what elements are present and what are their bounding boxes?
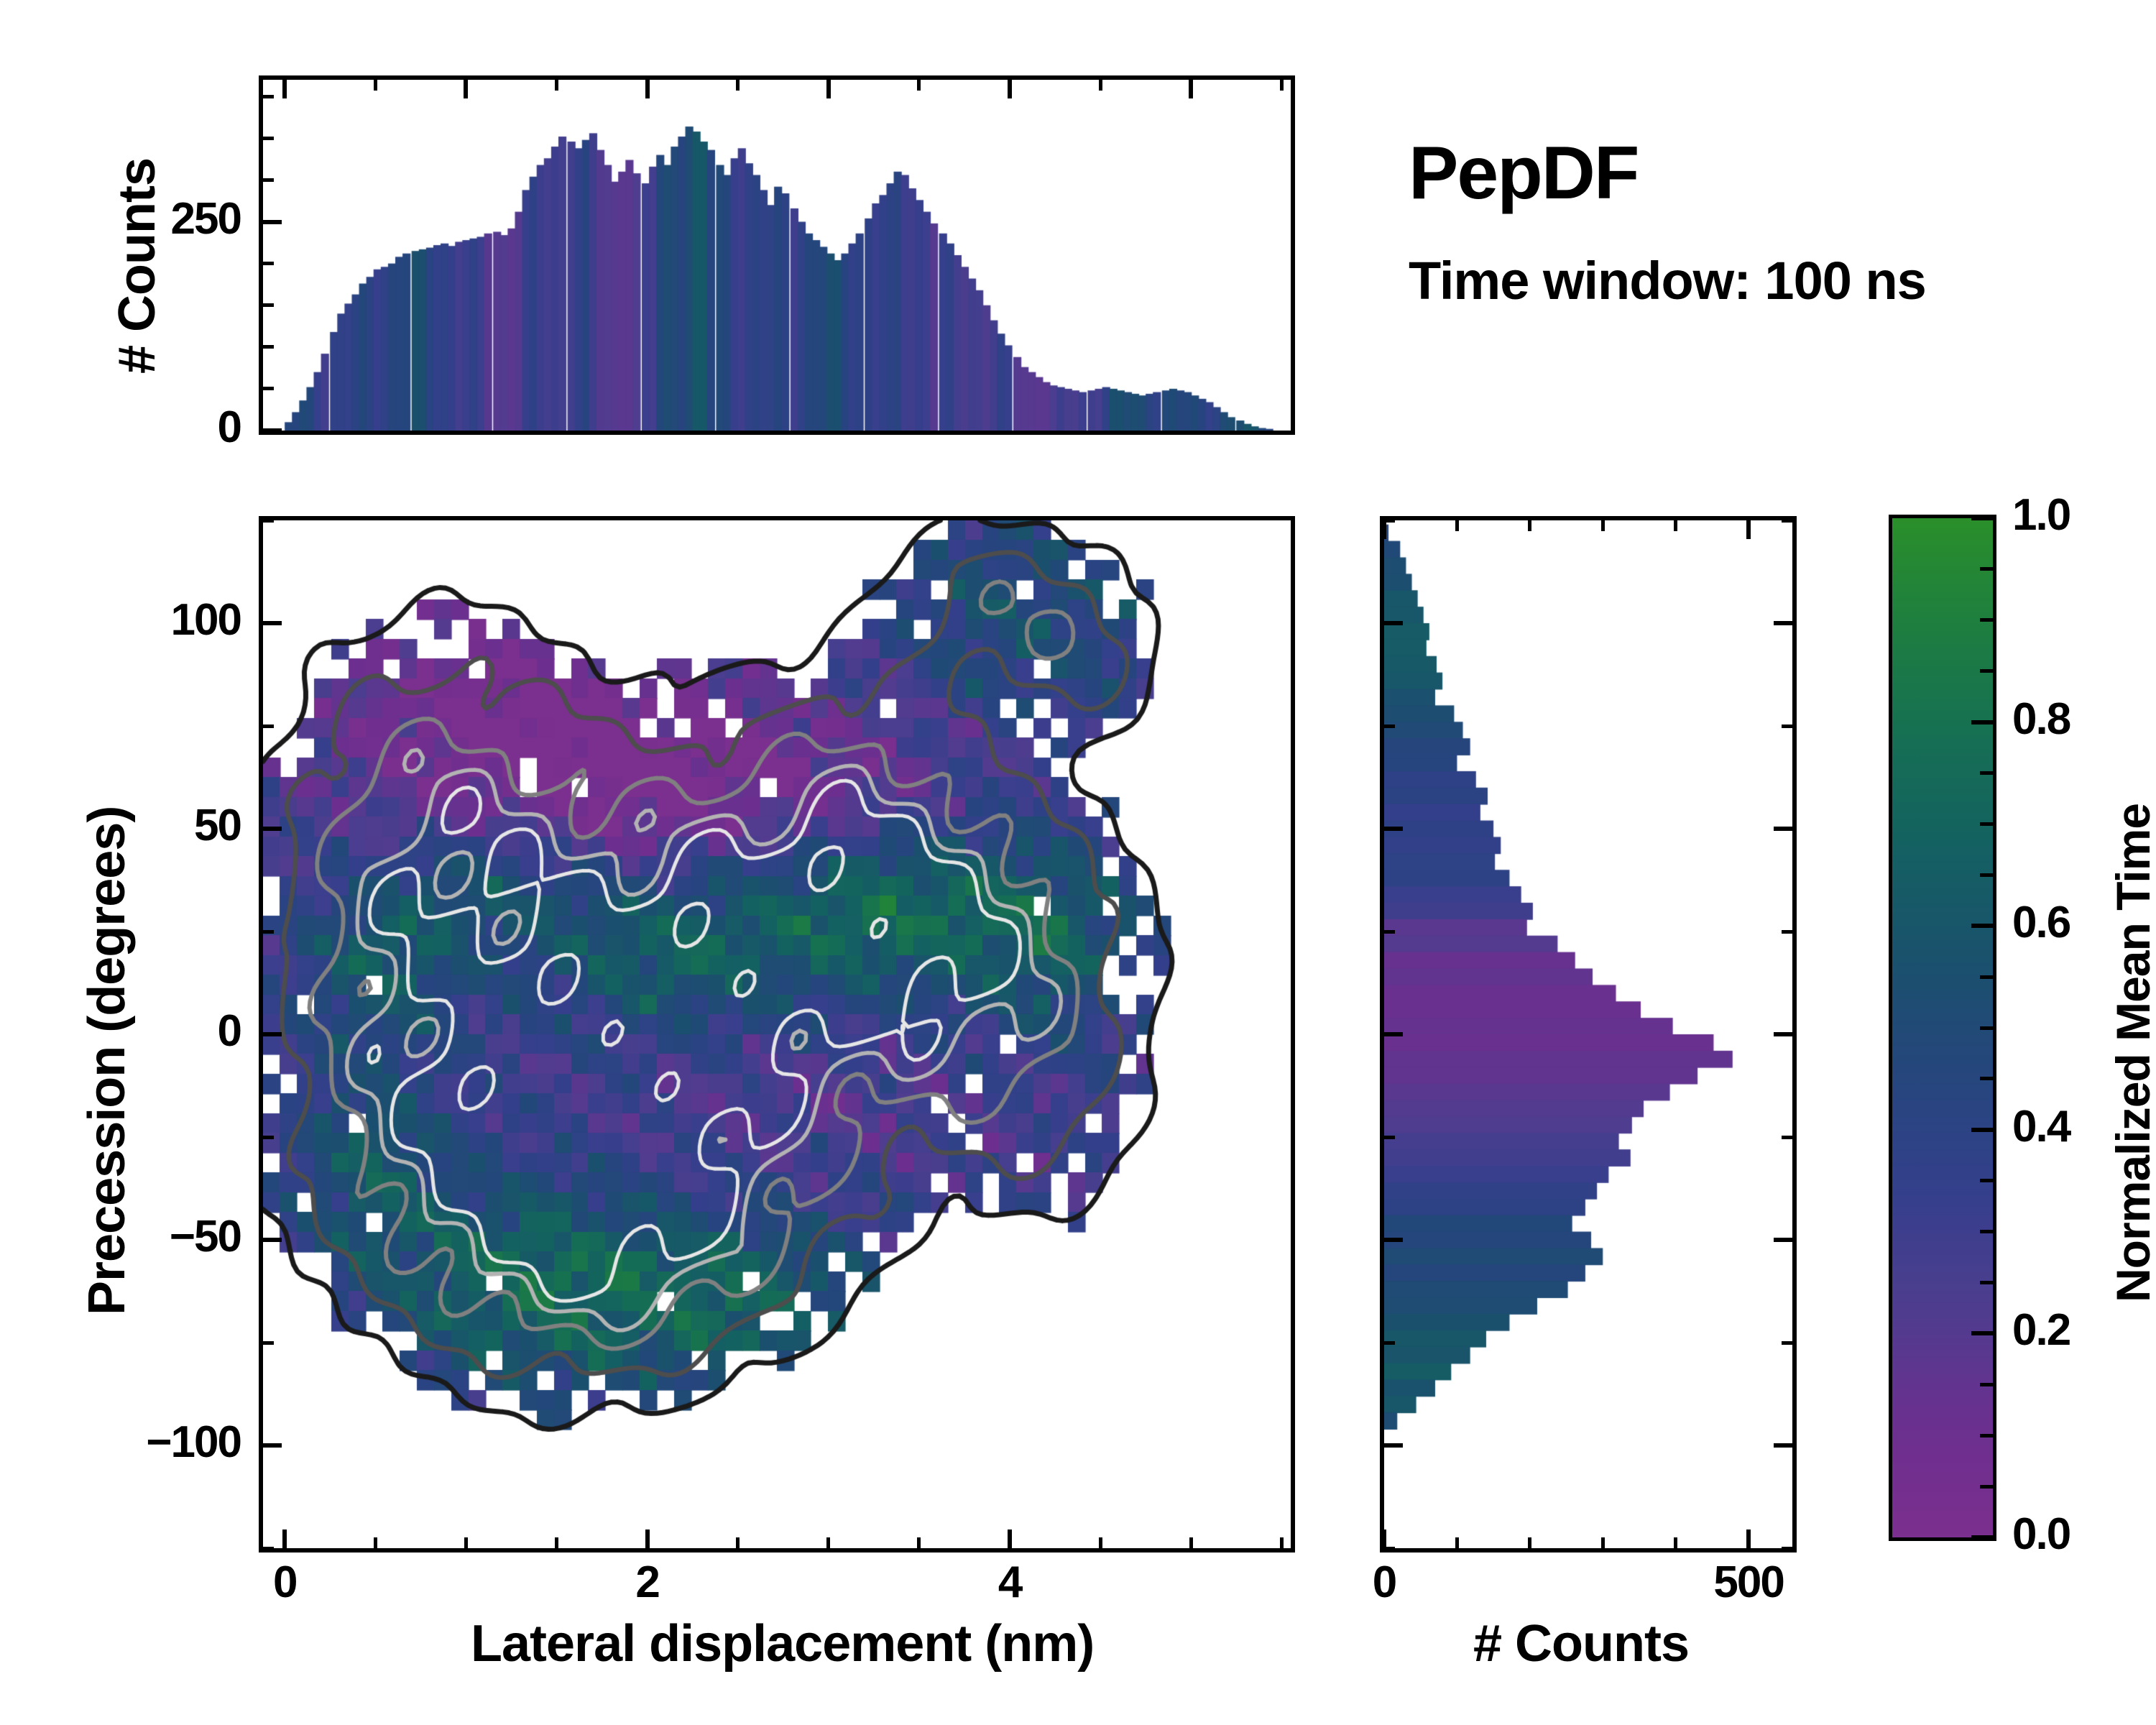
colorbar-tick-minor: [1980, 771, 1993, 775]
main-y-tick-major: [263, 1032, 282, 1036]
colorbar-tick-label: 0.2: [2012, 1305, 2070, 1356]
main-x-tick-minor: [1099, 1537, 1102, 1548]
colorbar-tick-minor: [1980, 1485, 1993, 1489]
right-y-tick-major: [1384, 1238, 1403, 1242]
main-x-tick-minor: [736, 1537, 740, 1548]
main-x-tick-major: [1008, 1529, 1012, 1548]
main-y-tick-minor: [263, 1547, 274, 1550]
colorbar-tick-minor: [1980, 873, 1993, 877]
right-y-tick-minor-r: [1782, 1341, 1792, 1345]
top-x-tick-minor: [826, 80, 830, 91]
top-y-tick-minor: [263, 262, 274, 265]
colorbar-tick-minor: [1980, 1179, 1993, 1182]
top-x-tick-major: [282, 80, 287, 98]
main-y-tick-major: [263, 827, 282, 831]
top-y-tick-label: 0: [65, 402, 241, 453]
top-y-tick-major: [263, 428, 282, 433]
colorbar-tick-major: [1971, 516, 1993, 520]
colorbar-tick-label: 0.8: [2012, 694, 2070, 745]
right-y-tick-minor: [1384, 1341, 1395, 1345]
right-y-tick-major: [1384, 621, 1403, 625]
right-x-tick-minor: [1601, 1537, 1605, 1548]
colorbar-tick-minor: [1980, 669, 1993, 673]
colorbar-tick-label: 0.4: [2012, 1101, 2070, 1152]
main-y-tick-minor: [263, 1341, 274, 1345]
main-y-tick-minor: [263, 930, 274, 934]
main-y-tick-minor: [263, 724, 274, 728]
right-x-tick-minor-top: [1528, 520, 1531, 531]
main-x-tick-minor: [1189, 1537, 1193, 1548]
top-y-tick-minor: [263, 303, 274, 307]
colorbar-tick-minor: [1980, 1230, 1993, 1233]
colorbar-tick-minor: [1980, 1281, 1993, 1284]
right-y-tick-major: [1384, 1443, 1403, 1448]
main-x-axis-title: Lateral displacement (nm): [471, 1614, 1094, 1673]
main-heatmap-panel: [259, 516, 1295, 1552]
main-y-tick-minor: [263, 1136, 274, 1139]
top-y-tick-minor: [263, 345, 274, 349]
colorbar-gradient: [1892, 518, 1993, 1537]
right-x-tick-minor-top: [1674, 520, 1677, 531]
top-x-tick-minor: [917, 80, 921, 91]
colorbar-tick-major: [1971, 1128, 1993, 1132]
right-y-tick-minor: [1384, 724, 1395, 728]
right-y-tick-minor-r: [1782, 1547, 1792, 1550]
top-y-tick-minor: [263, 137, 274, 140]
main-x-tick-major: [645, 1529, 650, 1548]
colorbar-tick-minor: [1980, 1434, 1993, 1437]
colorbar-tick-major: [1971, 1535, 1993, 1540]
colorbar-tick-minor: [1980, 975, 1993, 979]
right-marginal-x-axis-title: # Counts: [1473, 1614, 1689, 1673]
main-x-tick-minor: [374, 1537, 377, 1548]
main-y-tick-major: [263, 621, 282, 625]
main-x-tick-label: 0: [256, 1557, 313, 1608]
top-x-tick-minor: [1280, 80, 1284, 91]
colorbar-tick-major: [1971, 1331, 1993, 1335]
top-x-tick-minor: [1099, 80, 1102, 91]
main-heatmap-canvas: [263, 520, 1291, 1548]
right-x-tick-major-top: [1382, 520, 1386, 539]
right-y-tick-minor: [1384, 1136, 1395, 1139]
top-x-tick-minor: [374, 80, 377, 91]
top-x-tick-major: [645, 80, 650, 98]
top-marginal-histogram-canvas: [263, 80, 1291, 431]
colorbar-tick-label: 0.6: [2012, 897, 2070, 948]
page-title: PepDF: [1409, 131, 1638, 216]
right-y-tick-major: [1384, 1032, 1403, 1036]
right-y-tick-major-r: [1774, 1032, 1792, 1036]
main-x-tick-major: [282, 1529, 287, 1548]
top-y-tick-minor: [263, 95, 274, 98]
top-marginal-histogram-panel: [259, 75, 1295, 435]
right-marginal-histogram-panel: [1380, 516, 1797, 1552]
main-y-tick-label: 0: [65, 1006, 241, 1057]
right-y-tick-minor-r: [1782, 519, 1792, 523]
right-marginal-histogram-canvas: [1384, 520, 1792, 1548]
colorbar-tick-major: [1971, 924, 1993, 928]
main-x-tick-label: 4: [981, 1557, 1038, 1608]
right-x-tick-major-top: [1746, 520, 1751, 539]
colorbar-tick-minor: [1980, 1077, 1993, 1080]
main-y-tick-label: −50: [65, 1211, 241, 1262]
top-x-tick-minor: [736, 80, 740, 91]
colorbar-tick-major: [1971, 720, 1993, 724]
main-x-tick-minor: [555, 1537, 558, 1548]
colorbar-tick-label: 1.0: [2012, 489, 2070, 540]
main-x-tick-minor: [1280, 1537, 1284, 1548]
figure-subtitle: Time window: 100 ns: [1409, 250, 1926, 311]
right-y-tick-minor: [1384, 930, 1395, 934]
main-y-tick-label: 50: [65, 800, 241, 851]
right-y-tick-major-r: [1774, 827, 1792, 831]
colorbar-tick-minor: [1980, 1383, 1993, 1386]
main-y-tick-major: [263, 1443, 282, 1448]
top-y-tick-label: 250: [65, 193, 241, 244]
top-x-tick-minor: [555, 80, 558, 91]
right-x-tick-minor: [1528, 1537, 1531, 1548]
right-y-tick-minor: [1384, 519, 1395, 523]
right-y-tick-major-r: [1774, 1238, 1792, 1242]
main-x-tick-minor: [826, 1537, 830, 1548]
right-x-tick-major: [1746, 1529, 1751, 1548]
colorbar-tick-minor: [1980, 618, 1993, 622]
right-y-tick-minor-r: [1782, 724, 1792, 728]
main-y-tick-minor: [263, 519, 274, 523]
top-x-tick-major: [1008, 80, 1012, 98]
top-y-tick-major: [263, 220, 282, 224]
colorbar-tick-label: 0.0: [2012, 1509, 2070, 1560]
main-x-tick-minor: [917, 1537, 921, 1548]
top-y-tick-minor: [263, 178, 274, 182]
right-x-tick-minor: [1674, 1537, 1677, 1548]
colorbar-axis-title: Normalized Mean Time: [2106, 804, 2156, 1302]
main-x-tick-label: 2: [619, 1557, 676, 1608]
right-x-tick-minor-top: [1601, 520, 1605, 531]
top-x-tick-minor: [464, 80, 468, 91]
main-y-tick-label: 100: [65, 594, 241, 645]
right-y-tick-major-r: [1774, 621, 1792, 625]
right-x-tick-label: 500: [1691, 1557, 1806, 1608]
right-x-tick-minor: [1455, 1537, 1459, 1548]
colorbar-tick-minor: [1980, 1026, 1993, 1030]
main-y-tick-label: −100: [65, 1417, 241, 1468]
figure-root: PepDF Time window: 100 ns # Counts Later…: [0, 0, 2156, 1725]
colorbar-tick-minor: [1980, 822, 1993, 826]
right-x-tick-major: [1382, 1529, 1386, 1548]
main-y-tick-major: [263, 1238, 282, 1242]
top-marginal-y-axis-title: # Counts: [108, 158, 167, 374]
top-y-tick-minor: [263, 387, 274, 390]
right-y-tick-minor: [1384, 1547, 1395, 1550]
right-y-tick-minor-r: [1782, 930, 1792, 934]
top-x-tick-minor: [1189, 80, 1193, 91]
right-y-tick-minor-r: [1782, 1136, 1792, 1139]
main-x-tick-minor: [464, 1537, 468, 1548]
right-y-tick-major-r: [1774, 1443, 1792, 1448]
right-x-tick-label: 0: [1327, 1557, 1442, 1608]
colorbar-tick-minor: [1980, 567, 1993, 571]
right-x-tick-minor-top: [1455, 520, 1459, 531]
right-y-tick-major: [1384, 827, 1403, 831]
